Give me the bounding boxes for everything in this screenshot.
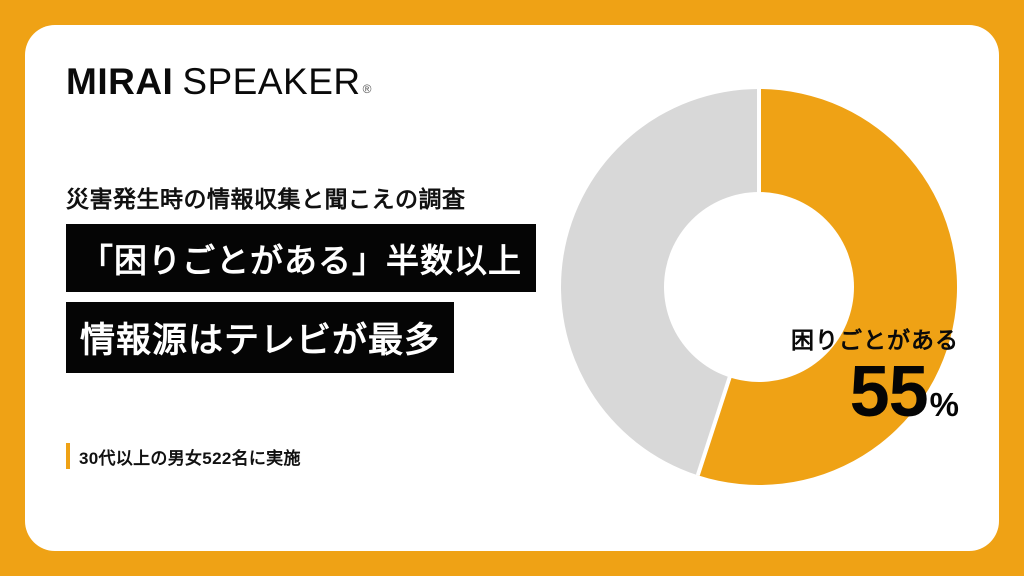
poster-root: MIRAI SPEAKER ® 災害発生時の情報収集と聞こえの調査 「困りごとが… [0,0,1024,576]
brand-logo-primary: MIRAI [66,63,173,100]
content-card: MIRAI SPEAKER ® 災害発生時の情報収集と聞こえの調査 「困りごとが… [25,25,999,551]
headline-primary-text: 「困りごとがある」半数以上 [80,234,522,282]
survey-footnote: 30代以上の男女522名に実施 [66,443,301,469]
footnote-text: 30代以上の男女522名に実施 [79,444,301,469]
headline-secondary-text: 情報源はテレビが最多 [80,312,440,363]
brand-logo-secondary: SPEAKER [182,63,360,100]
headline-secondary: 情報源はテレビが最多 [66,302,454,373]
donut-chart-svg [559,87,959,487]
donut-chart: 困りごとがある 55 % [559,87,959,487]
registered-trademark-icon: ® [363,83,372,95]
headline-primary: 「困りごとがある」半数以上 [66,224,536,292]
footnote-accent-bar [66,443,70,469]
left-column: MIRAI SPEAKER ® 災害発生時の情報収集と聞こえの調査 「困りごとが… [66,25,566,551]
brand-logo: MIRAI SPEAKER ® [66,63,371,100]
survey-subtitle: 災害発生時の情報収集と聞こえの調査 [66,180,466,214]
donut-hole [664,192,854,382]
